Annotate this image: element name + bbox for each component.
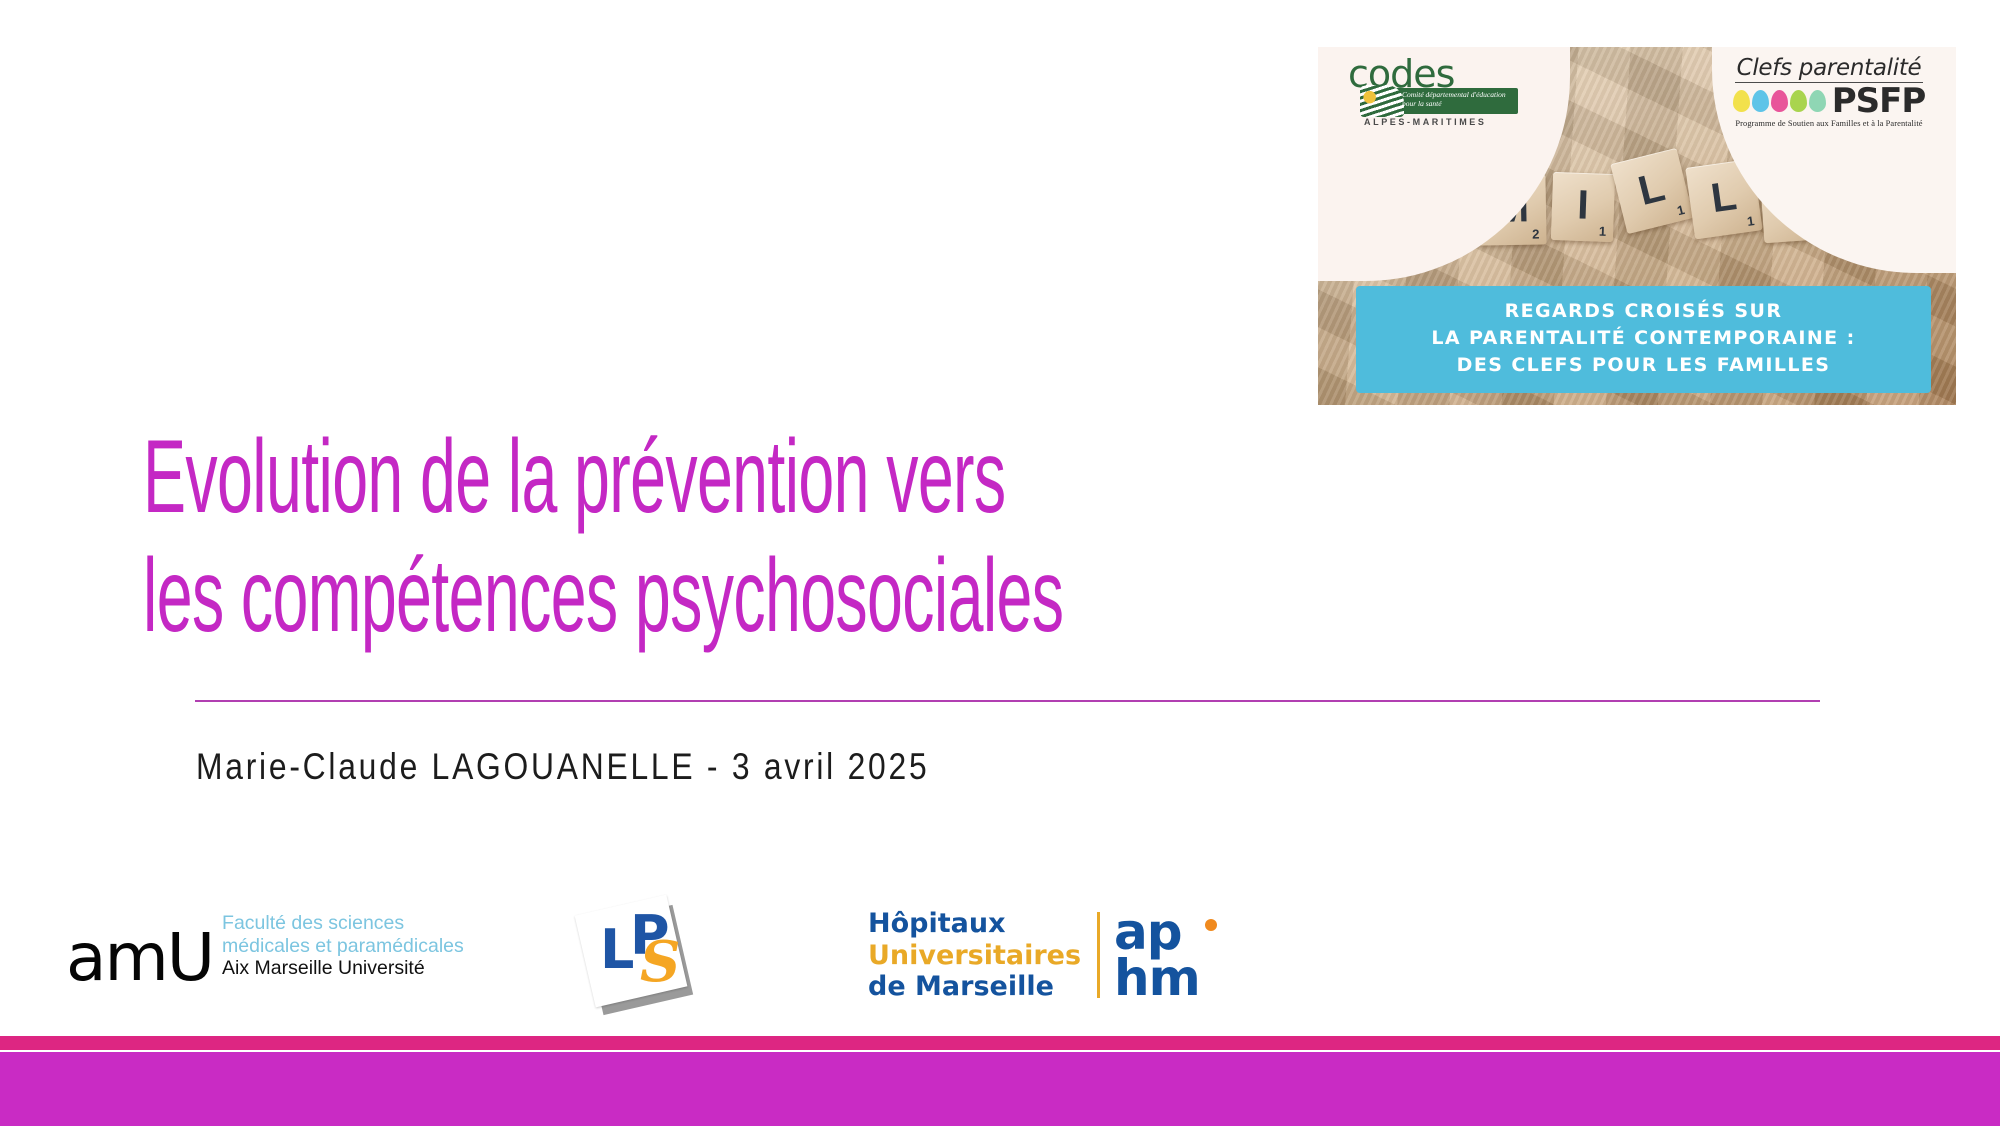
- aphm-logo: Hôpitaux Universitaires de Marseille ap …: [868, 908, 1200, 1003]
- aphm-dot-icon: [1205, 919, 1217, 931]
- lps-letter-s: S: [640, 940, 680, 985]
- title-line-2: les compétences psychosociales: [143, 537, 1197, 656]
- banner-line-3: DES CLEFS POUR LES FAMILLES: [1366, 352, 1921, 379]
- aphm-mark-line-2: hm: [1114, 955, 1200, 1001]
- lps-logo: L P S: [578, 898, 698, 1016]
- aphm-divider: [1097, 912, 1100, 998]
- aphm-text-block: Hôpitaux Universitaires de Marseille: [868, 908, 1081, 1003]
- banner-line-1: REGARDS CROISÉS SUR: [1366, 298, 1921, 325]
- psfp-acronym: PSFP: [1832, 86, 1926, 117]
- psfp-top-wrap: Clefs parentalité: [1718, 55, 1940, 83]
- footer-thin-bar: [0, 1036, 2000, 1050]
- amu-line-1: Faculté des sciences: [222, 912, 464, 935]
- aphm-line-2: Universitaires: [868, 940, 1081, 972]
- poster-banner: REGARDS CROISÉS SUR LA PARENTALITÉ CONTE…: [1356, 286, 1931, 393]
- codes-swirl-icon: [1360, 85, 1404, 117]
- amu-line-3: Aix Marseille Université: [222, 957, 464, 980]
- slide-title: Evolution de la prévention vers les comp…: [143, 418, 1197, 655]
- banner-line-2: LA PARENTALITÉ CONTEMPORAINE :: [1366, 325, 1921, 352]
- tile-score: 2: [1532, 227, 1539, 242]
- footer-accent-bar: [0, 1052, 2000, 1126]
- psfp-logo: Clefs parentalité PSFP Programme de Sout…: [1718, 55, 1940, 137]
- amu-wordmark: amU: [66, 931, 213, 985]
- scrabble-tile-i: I 1: [1551, 172, 1615, 242]
- title-line-1: Evolution de la prévention vers: [143, 418, 1197, 537]
- aphm-mark: ap hm: [1114, 909, 1200, 1001]
- title-divider: [195, 700, 1820, 702]
- slide-subtitle: Marie-Claude LAGOUANELLE - 3 avril 2025: [196, 746, 929, 788]
- amu-line-2: médicales et paramédicales: [222, 935, 464, 958]
- amu-text-block: Faculté des sciences médicales et paramé…: [222, 912, 464, 985]
- psfp-acronym-row: PSFP: [1718, 86, 1940, 117]
- codes-tagline: Comité départemental d'éducation pour la…: [1402, 90, 1520, 109]
- amu-logo: amU Faculté des sciences médicales et pa…: [66, 912, 464, 985]
- tile-letter: I: [1551, 181, 1615, 230]
- hero-poster-image: F 4 A 1 M 2 I 1 L 1 L 1 E 1 S 1: [1318, 47, 1956, 405]
- codes-logo: codes Comité départemental d'éducation p…: [1342, 55, 1532, 133]
- codes-region-label: ALPES-MARITIMES: [1364, 117, 1487, 127]
- psfp-tagline: Programme de Soutien aux Familles et à l…: [1718, 119, 1940, 128]
- psfp-clefs-parentalite: Clefs parentalité: [1735, 55, 1924, 83]
- presentation-slide: F 4 A 1 M 2 I 1 L 1 L 1 E 1 S 1: [0, 0, 2000, 1126]
- aphm-line-3: de Marseille: [868, 971, 1081, 1003]
- aphm-line-1: Hôpitaux: [868, 908, 1081, 940]
- tile-score: 1: [1599, 224, 1607, 239]
- psfp-dots-icon: [1733, 90, 1826, 112]
